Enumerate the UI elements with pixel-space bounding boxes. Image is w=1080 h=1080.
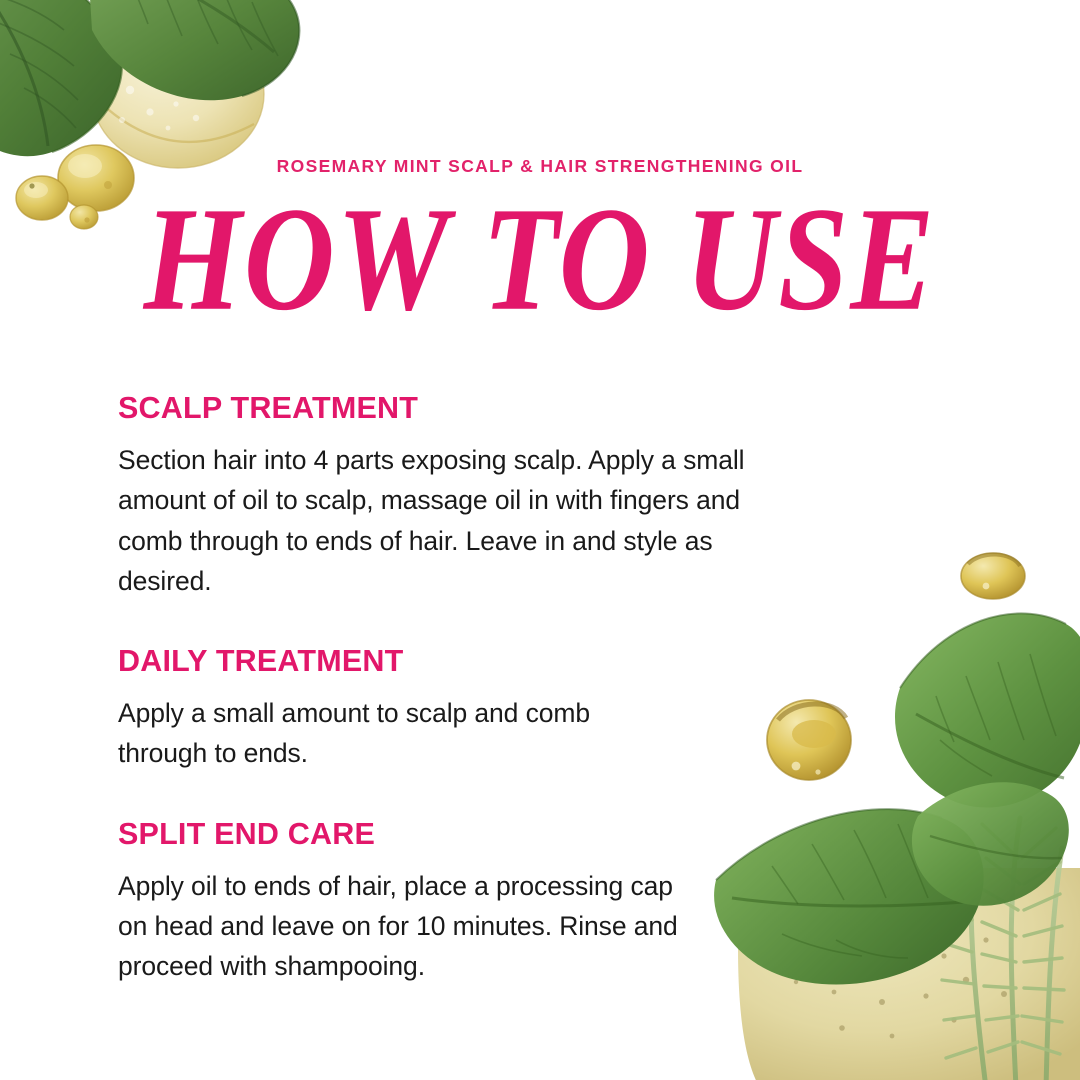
oil-droplet (961, 553, 1025, 599)
mint-leaf (895, 613, 1080, 807)
page-title: HOW TO USE (0, 186, 1080, 335)
section-body: Apply oil to ends of hair, place a proce… (118, 866, 693, 987)
instruction-section-split-end-care: SPLIT END CARE Apply oil to ends of hair… (118, 818, 798, 987)
mint-leaf (0, 0, 122, 156)
section-body: Section hair into 4 parts exposing scalp… (118, 440, 758, 601)
section-title: DAILY TREATMENT (118, 645, 798, 677)
mint-leaf (86, 0, 299, 100)
instruction-section-scalp-treatment: SCALP TREATMENT Section hair into 4 part… (118, 392, 798, 601)
oil-drop-large (92, 20, 264, 168)
section-title: SPLIT END CARE (118, 818, 798, 850)
section-body: Apply a small amount to scalp and comb t… (118, 693, 663, 774)
mint-leaf (912, 782, 1069, 905)
section-title: SCALP TREATMENT (118, 392, 798, 424)
instructions-list: SCALP TREATMENT Section hair into 4 part… (118, 392, 798, 986)
product-eyebrow-label: ROSEMARY MINT SCALP & HAIR STRENGTHENING… (0, 158, 1080, 176)
rosemary-sprig (940, 818, 1064, 1080)
instruction-section-daily-treatment: DAILY TREATMENT Apply a small amount to … (118, 645, 798, 774)
poster-canvas: ROSEMARY MINT SCALP & HAIR STRENGTHENING… (0, 0, 1080, 1080)
header: ROSEMARY MINT SCALP & HAIR STRENGTHENING… (0, 158, 1080, 312)
